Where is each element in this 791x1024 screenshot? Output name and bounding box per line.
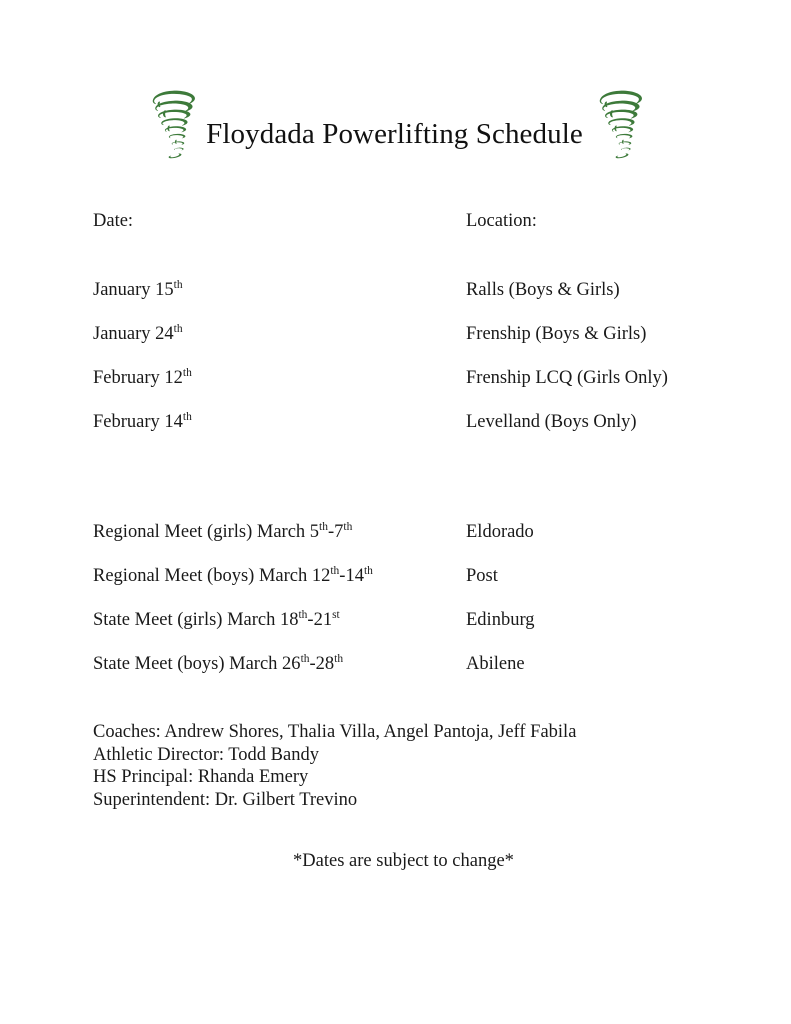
schedule-location: Levelland (Boys Only) [466, 411, 637, 433]
meet-date: State Meet (girls) March 18th-21st [93, 609, 340, 631]
date-suffix: th [174, 323, 183, 335]
date-suffix: th [183, 367, 192, 379]
date-suffix: th [343, 521, 352, 533]
date-suffix: th [319, 521, 328, 533]
date-suffix: th [174, 279, 183, 291]
staff-hs-principal: HS Principal: Rhanda Emery [93, 766, 733, 789]
document-page: Floydada Powerlifting Schedule Date: Loc… [0, 0, 791, 1024]
date-suffix: th [183, 411, 192, 423]
schedule-date: February 14th [93, 411, 192, 433]
date-suffix: th [334, 653, 343, 665]
meet-location: Eldorado [466, 521, 534, 543]
table-row: January 15th Ralls (Boys & Girls) [0, 279, 791, 323]
meet-date: State Meet (boys) March 26th-28th [93, 653, 343, 675]
meet-location: Abilene [466, 653, 525, 675]
meet-date: Regional Meet (girls) March 5th-7th [93, 521, 352, 543]
date-suffix: st [332, 609, 340, 621]
staff-athletic-director: Athletic Director: Todd Bandy [93, 744, 733, 767]
table-row: January 24th Frenship (Boys & Girls) [0, 323, 791, 367]
meet-date: Regional Meet (boys) March 12th-14th [93, 565, 373, 587]
tornado-icon [144, 86, 200, 166]
date-suffix: th [330, 565, 339, 577]
page-title: Floydada Powerlifting Schedule [206, 118, 583, 151]
date-suffix: th [364, 565, 373, 577]
schedule-primary: January 15th Ralls (Boys & Girls) Januar… [0, 279, 791, 455]
meet-location: Edinburg [466, 609, 535, 631]
tornado-icon [591, 86, 647, 166]
schedule-location: Ralls (Boys & Girls) [466, 279, 620, 301]
schedule-date: January 24th [93, 323, 183, 345]
schedule-location: Frenship (Boys & Girls) [466, 323, 646, 345]
staff-coaches: Coaches: Andrew Shores, Thalia Villa, An… [93, 721, 733, 744]
schedule-date: January 15th [93, 279, 183, 301]
schedule-date: February 12th [93, 367, 192, 389]
table-row: Regional Meet (boys) March 12th-14th Pos… [0, 565, 791, 609]
footnote: *Dates are subject to change* [0, 851, 791, 872]
table-row: February 12th Frenship LCQ (Girls Only) [0, 367, 791, 411]
table-row: State Meet (boys) March 26th-28th Abilen… [0, 653, 791, 697]
table-row: Regional Meet (girls) March 5th-7th Eldo… [0, 521, 791, 565]
schedule-meets: Regional Meet (girls) March 5th-7th Eldo… [0, 521, 791, 697]
table-row: State Meet (girls) March 18th-21st Edinb… [0, 609, 791, 653]
meet-location: Post [466, 565, 498, 587]
table-row: February 14th Levelland (Boys Only) [0, 411, 791, 455]
staff-list: Coaches: Andrew Shores, Thalia Villa, An… [93, 721, 733, 811]
schedule-location: Frenship LCQ (Girls Only) [466, 367, 668, 389]
staff-superintendent: Superintendent: Dr. Gilbert Trevino [93, 789, 733, 812]
footnote-text: *Dates are subject to change* [277, 851, 514, 872]
column-header-location: Location: [466, 211, 537, 232]
column-header-date: Date: [93, 211, 133, 232]
document-header: Floydada Powerlifting Schedule [0, 84, 791, 174]
